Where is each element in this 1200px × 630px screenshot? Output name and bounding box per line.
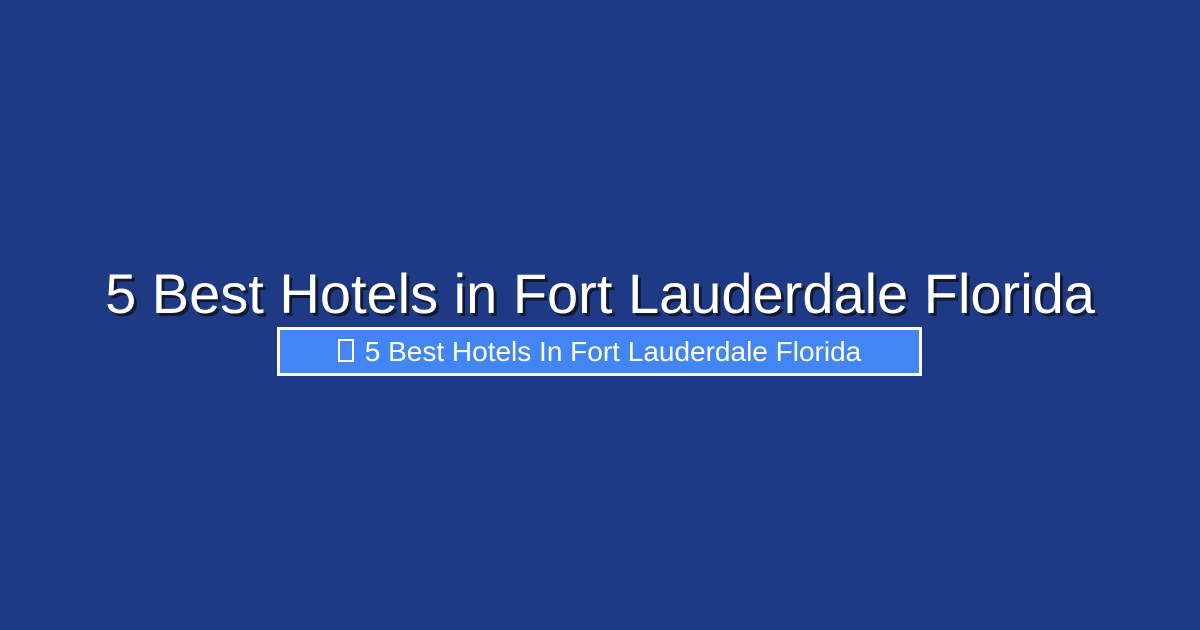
- cta-button-text: 5 Best Hotels In Fort Lauderdale Florida: [365, 338, 861, 366]
- missing-glyph-tofu-icon: [338, 339, 354, 362]
- cta-button-label: 5 Best Hotels In Fort Lauderdale Florida: [338, 338, 861, 366]
- share-card: 5 Best Hotels in Fort Lauderdale Florida…: [0, 0, 1200, 630]
- page-title: 5 Best Hotels in Fort Lauderdale Florida: [0, 266, 1200, 322]
- cta-button[interactable]: 5 Best Hotels In Fort Lauderdale Florida: [277, 327, 922, 376]
